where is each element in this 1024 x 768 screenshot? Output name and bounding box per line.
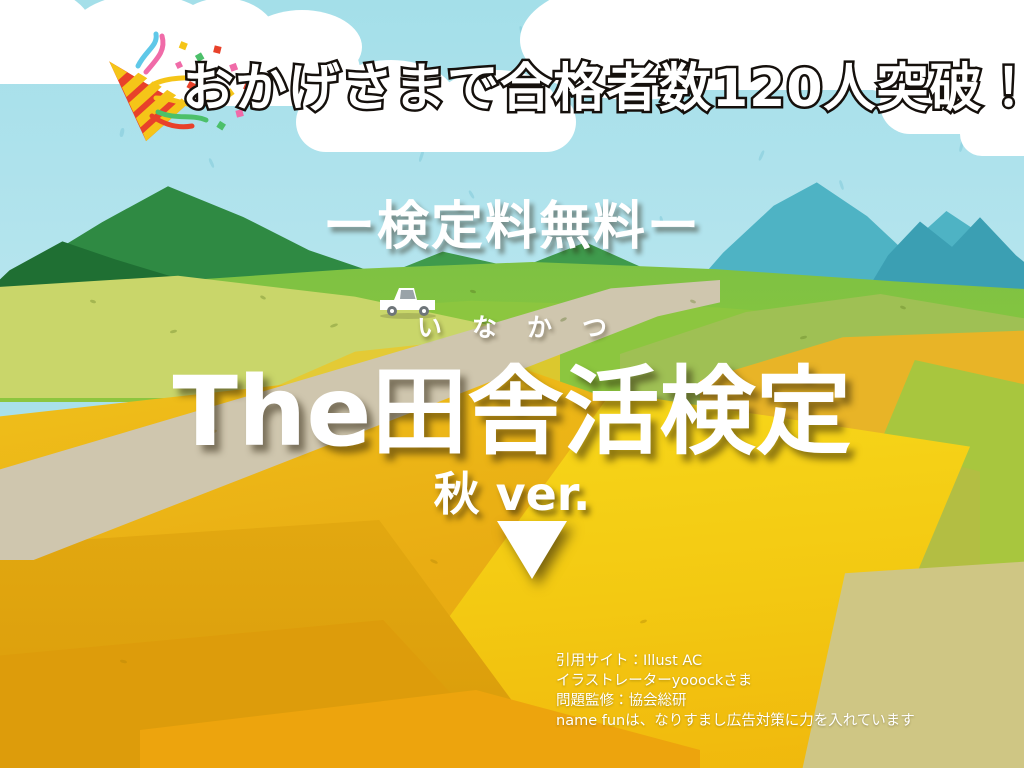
credit-line: name funは、なりすまし広告対策に力を入れています bbox=[556, 711, 915, 731]
free-exam-fee-label: ー検定料無料ー bbox=[0, 184, 1024, 259]
poster-canvas: おかげさまで合格者数120人突破！ ー検定料無料ー いなかつ The田舎活検定 … bbox=[0, 0, 1024, 768]
version-label: 秋 ver. bbox=[0, 458, 1024, 524]
credit-line: イラストレーターyooockさま bbox=[556, 671, 915, 691]
headline-text: おかげさまで合格者数120人突破！ bbox=[182, 46, 1024, 121]
credit-line: 引用サイト：Illust AC bbox=[556, 651, 915, 671]
triangle-down-icon bbox=[497, 521, 567, 579]
main-title: The田舎活検定 bbox=[0, 334, 1024, 473]
credits-block: 引用サイト：Illust AC イラストレーターyooockさま 問題監修：協会… bbox=[556, 651, 915, 731]
credit-line: 問題監修：協会総研 bbox=[556, 691, 915, 711]
